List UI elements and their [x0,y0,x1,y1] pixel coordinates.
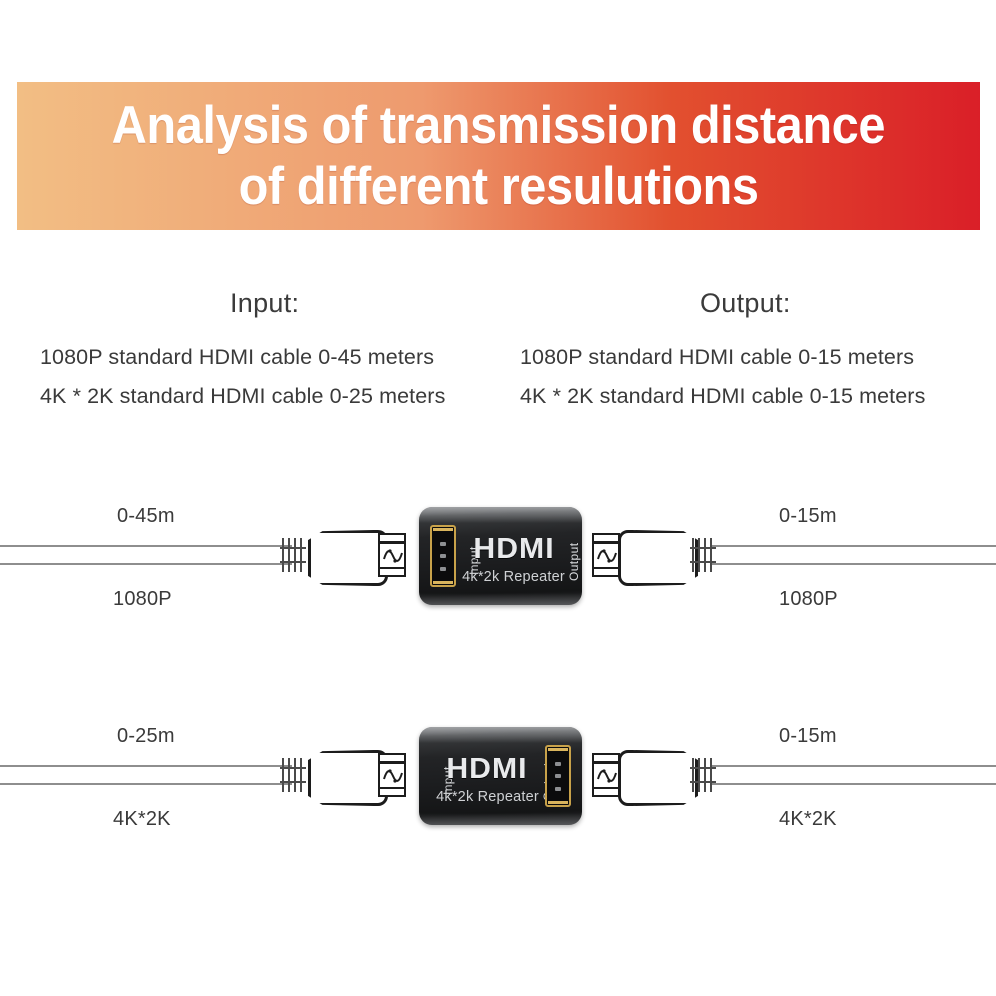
hdmi-socket [545,745,571,807]
connector-wave-icon [382,546,404,566]
input-spec-4k2k: 4K * 2K standard HDMI cable 0-25 meters [40,384,445,409]
right-distance-label: 0-15m [779,725,837,748]
right-cable [712,545,996,565]
hdmi-repeater-device: Input HDMI 4k*2k Repeater Output [419,727,582,825]
hdmi-repeater-device: Input HDMI 4k*2k Repeater Output [419,507,582,605]
infographic-canvas: Analysis of transmission distance of dif… [0,0,996,996]
right-cable [712,765,996,785]
connector-wave-icon [596,766,618,786]
left-connector-head [378,753,406,797]
left-connector-body [308,530,388,586]
output-column-heading: Output: [700,288,791,319]
left-strain-relief [280,758,306,792]
right-connector-head [592,533,620,577]
diagram-row-4k2k: 0-25m 4K*2K Input HDMI 4k*2k Repeater Ou… [0,700,996,900]
right-connector-head [592,753,620,797]
title-banner: Analysis of transmission distance of dif… [17,82,980,230]
right-resolution-label: 4K*2K [779,808,837,831]
input-column-heading: Input: [230,288,299,319]
left-distance-label: 0-25m [117,725,175,748]
output-spec-4k2k: 4K * 2K standard HDMI cable 0-15 meters [520,384,925,409]
left-distance-label: 0-45m [117,505,175,528]
left-connector-body [308,750,388,806]
left-cable [0,545,292,565]
right-connector-body [618,750,698,806]
connector-wave-icon [382,766,404,786]
left-connector-head [378,533,406,577]
right-distance-label: 0-15m [779,505,837,528]
device-model-text: 4k*2k Repeater [419,569,582,585]
left-resolution-label: 1080P [113,588,172,611]
left-resolution-label: 4K*2K [113,808,171,831]
output-spec-1080p: 1080P standard HDMI cable 0-15 meters [520,345,914,370]
title-line-2: of different resulutions [239,156,759,217]
left-cable [0,765,292,785]
connector-wave-icon [596,546,618,566]
title-line-1: Analysis of transmission distance [112,95,885,156]
device-output-label: Output [567,543,581,581]
right-connector-body [618,530,698,586]
device-brand-text: HDMI [419,533,582,566]
input-spec-1080p: 1080P standard HDMI cable 0-45 meters [40,345,434,370]
left-strain-relief [280,538,306,572]
diagram-row-1080p: 0-45m 1080P Input HDMI 4k*2k Repeater Ou… [0,480,996,680]
right-resolution-label: 1080P [779,588,838,611]
